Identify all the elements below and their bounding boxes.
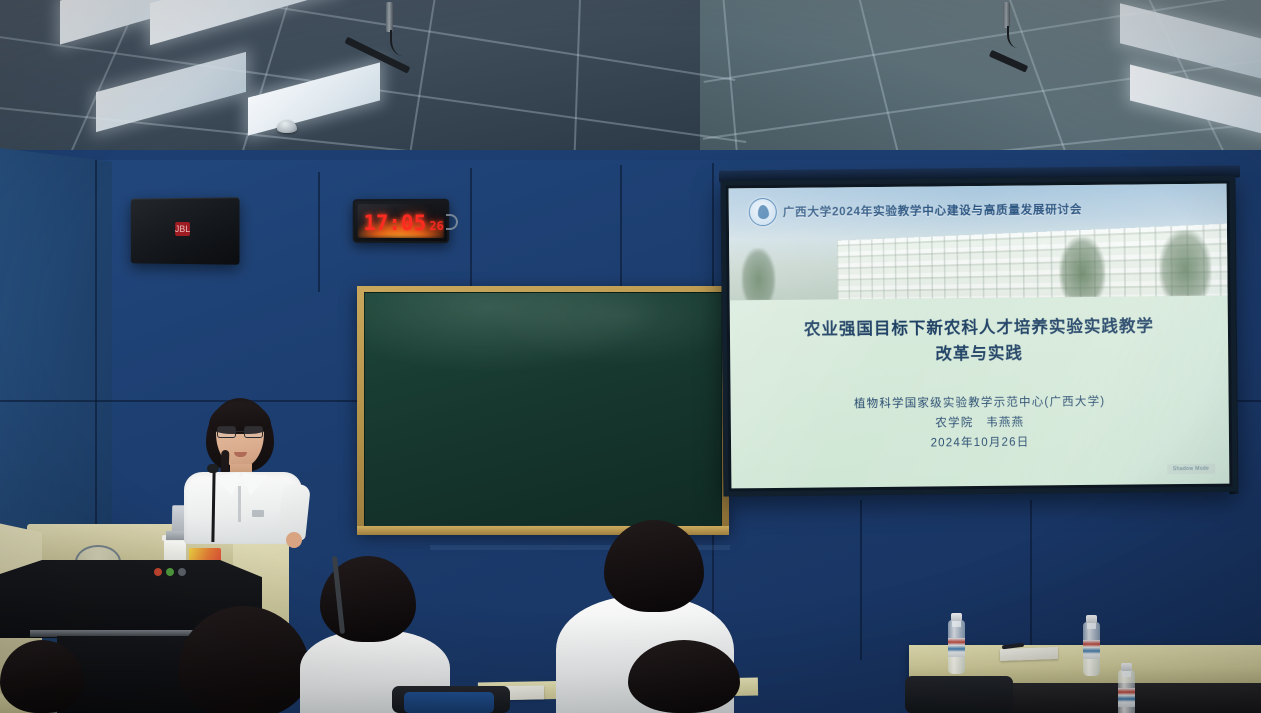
water-bottle-2 [1083, 622, 1100, 676]
glasses-lens-left [217, 426, 236, 438]
clock-display-glass: 17:05 26 [358, 204, 445, 238]
hanging-microphone-right-stem [1003, 2, 1010, 28]
lecture-hall-photo: JBL 17:05 26 广西大学2024年实验教学中心建设与 [0, 0, 1261, 713]
speaker-brand-badge: JBL [175, 222, 190, 236]
blackboard-surface [364, 292, 722, 526]
slide-banner: 广西大学2024年实验教学中心建设与高质量发展研讨会 [729, 184, 1228, 301]
wall-seam [1030, 500, 1032, 650]
presenter [176, 398, 308, 544]
hanging-microphone-right-cable [1007, 26, 1025, 48]
slide-metadata: 植物科学国家级实验教学示范中心(广西大学) 农学院 韦燕燕 2024年10月26… [757, 391, 1204, 456]
presenter-glasses [217, 426, 263, 439]
slide-body: 农业强国目标下新农科人才培养实验实践教学 改革与实践 植物科学国家级实验教学示范… [730, 296, 1230, 489]
ceiling-grid-line [572, 0, 582, 175]
led-grey [178, 568, 186, 576]
led-wall-clock: 17:05 26 [353, 199, 449, 243]
logo-droplet-icon [757, 204, 770, 219]
podium-microphone-head [207, 464, 219, 473]
presentation-slide: 广西大学2024年实验教学中心建设与高质量发展研讨会 农业强国目标下新农科人才培… [729, 184, 1230, 489]
hanging-microphone-left-stem [386, 2, 393, 32]
slide-banner-title: 广西大学2024年实验教学中心建设与高质量发展研讨会 [783, 200, 1217, 220]
wall-seam [620, 165, 622, 287]
bottle-label [1118, 688, 1135, 707]
led-red [154, 568, 162, 576]
bottle-cap [1086, 615, 1097, 623]
wall-speaker: JBL [131, 197, 240, 264]
led-green [166, 568, 174, 576]
presenter-hand [286, 532, 302, 548]
guangxi-university-logo [749, 198, 777, 226]
tree-right [1059, 237, 1106, 297]
suspended-ceiling [0, 0, 1261, 175]
light-panel-3 [96, 52, 246, 132]
bottle-cap [1121, 663, 1132, 671]
bottle-label [948, 638, 965, 657]
light-panel-2 [150, 0, 340, 45]
clock-seconds: 26 [429, 219, 444, 233]
tree-left [741, 248, 775, 300]
projection-screen: 广西大学2024年实验教学中心建设与高质量发展研讨会 农业强国目标下新农科人才培… [720, 176, 1237, 497]
slide-title-line-1: 农业强国目标下新农科人才培养实验实践教学 [756, 314, 1202, 344]
clock-digits: 17:05 26 [363, 211, 440, 235]
chair-back-right [905, 676, 1013, 713]
slide-title-line-2: 改革与实践 [756, 339, 1202, 369]
papers-on-desk [1000, 647, 1058, 661]
wall-seam [318, 172, 320, 292]
wall-seam [860, 500, 862, 660]
clock-hours-minutes: 17:05 [363, 211, 426, 235]
wall-seam [470, 168, 472, 288]
podium-indicator-lights [154, 568, 186, 576]
water-bottle-3 [1118, 670, 1135, 713]
glasses-lens-right [244, 426, 263, 438]
blackboard [357, 286, 729, 532]
bottle-neck [1087, 622, 1096, 629]
bottle-neck [1122, 670, 1131, 677]
slide-watermark: Shadow Mode [1167, 464, 1215, 474]
water-bottle-1 [948, 620, 965, 674]
bottle-neck [952, 620, 961, 627]
bottle-cap [951, 613, 962, 621]
chair-seat-blue [404, 692, 494, 713]
presenter-shirt-placket [238, 486, 241, 522]
bottle-label [1083, 640, 1100, 659]
presenter-shirt-logo [252, 510, 264, 517]
dome-security-camera [277, 120, 297, 133]
slide-date: 2024年10月26日 [757, 431, 1203, 455]
glasses-bridge [236, 431, 244, 432]
tree-far-right [1159, 230, 1212, 296]
